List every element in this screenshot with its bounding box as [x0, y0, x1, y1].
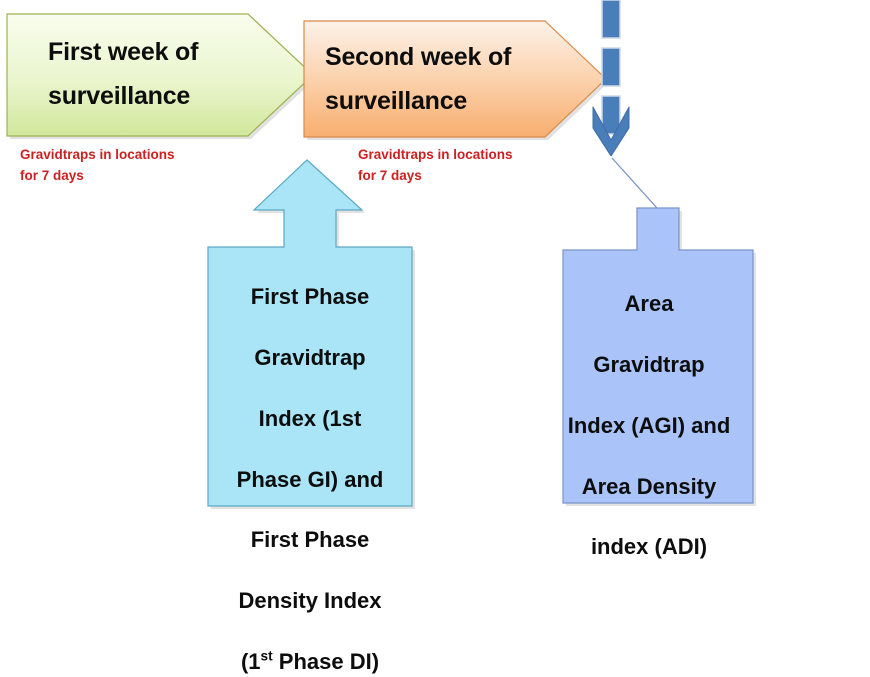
chevron-first-week[interactable]: First week ofsurveillance: [3, 10, 315, 140]
area-line-2: Gravidtrap: [593, 352, 704, 377]
chevron-second-week-line1: Second week of: [325, 43, 511, 71]
dashed-down-arrow-shape: [592, 0, 640, 156]
area-line-1: Area: [625, 291, 674, 316]
first-phase-line-2: Gravidtrap: [254, 345, 365, 370]
first-phase-indices-block[interactable]: First Phase Gravidtrap Index (1st Phase …: [196, 158, 424, 514]
area-line-4: Area Density: [582, 474, 717, 499]
area-line-3: Index (AGI) and: [568, 413, 731, 438]
first-phase-line-1: First Phase: [251, 284, 370, 309]
chevron-second-week-label: Second week ofsurveillance: [325, 36, 511, 124]
first-phase-line-4: Phase GI) and: [237, 467, 384, 492]
chevron-second-week[interactable]: Second week ofsurveillance: [300, 17, 610, 142]
chevron-first-week-label: First week ofsurveillance: [48, 31, 198, 119]
first-phase-indices-label: First Phase Gravidtrap Index (1st Phase …: [208, 252, 412, 677]
dashed-down-arrow: [592, 0, 640, 156]
area-indices-label: Area Gravidtrap Index (AGI) and Area Den…: [517, 259, 781, 563]
area-indices-block[interactable]: Area Gravidtrap Index (AGI) and Area Den…: [553, 153, 781, 511]
first-phase-line-5: First Phase: [251, 527, 370, 552]
caption-first-week: Gravidtraps in locations for 7 days: [20, 145, 175, 187]
chevron-first-week-line1: First week of: [48, 38, 198, 66]
ordinal-suffix: st: [261, 648, 273, 663]
caption-second-week: Gravidtraps in locations for 7 days: [358, 145, 513, 187]
diagram-canvas: First week ofsurveillance Second week of…: [0, 0, 870, 520]
chevron-first-week-line2: surveillance: [48, 82, 190, 110]
chevron-second-week-line2: surveillance: [325, 87, 467, 115]
area-line-5: index (ADI): [591, 534, 707, 559]
first-phase-line-7: (1st Phase DI): [241, 649, 379, 674]
first-phase-line-3: Index (1st: [259, 406, 362, 431]
first-phase-line-6: Density Index: [238, 588, 381, 613]
